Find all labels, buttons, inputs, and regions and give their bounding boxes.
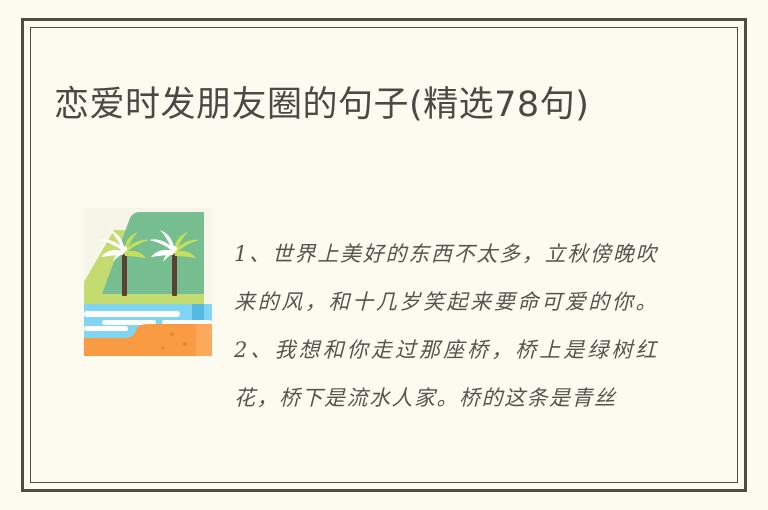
article-page: 恋爱时发朋友圈的句子(精选78句) xyxy=(0,0,768,510)
page-title: 恋爱时发朋友圈的句子(精选78句) xyxy=(54,80,674,130)
article-content: 1、世界上美好的东西不太多，立秋傍晚吹来的风，和十几岁笑起来要命可爱的你。2、我… xyxy=(54,200,674,445)
article-thumbnail xyxy=(84,208,212,356)
beach-illustration-icon xyxy=(84,208,212,356)
article-excerpt: 1、世界上美好的东西不太多，立秋傍晚吹来的风，和十几岁笑起来要命可爱的你。2、我… xyxy=(234,230,658,422)
